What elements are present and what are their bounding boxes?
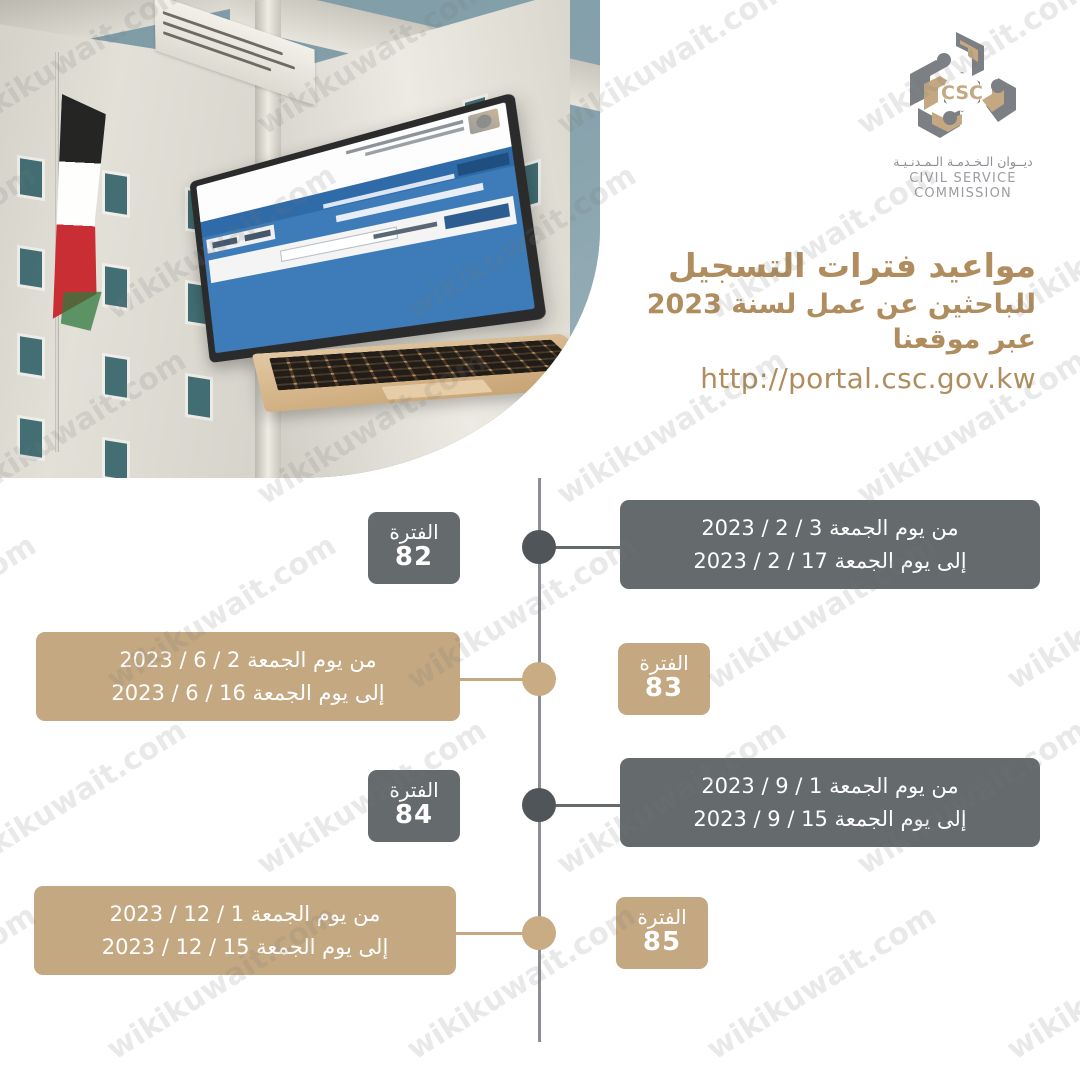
logo-name-arabic: ديــوان الـخـدمـة الـمـدنـيـة — [868, 154, 1058, 169]
timeline-dot-83 — [522, 662, 556, 696]
period-84-badge-label: الفترة — [368, 779, 460, 801]
headline-line-2: للباحثين عن عمل لسنة 2023 — [616, 287, 1036, 322]
period-82-from: من يوم الجمعة 3 / 2 / 2023 — [642, 512, 1018, 545]
laptop-mockup — [200, 178, 600, 478]
headline-line-3: عبر موقعنا — [616, 322, 1036, 357]
timeline-dot-85 — [522, 916, 556, 950]
period-85-from: من يوم الجمعة 1 / 12 / 2023 — [56, 898, 434, 931]
svg-text:CSC: CSC — [941, 82, 983, 104]
csc-logo: CSC ديــوان الـخـدمـة الـمـدنـيـة CIVIL … — [868, 26, 1058, 196]
period-badge-85: الفترة 85 — [616, 897, 708, 969]
watermark-text: wikikuwait.com — [1001, 898, 1080, 1067]
period-card-85: من يوم الجمعة 1 / 12 / 2023 إلى يوم الجم… — [34, 886, 456, 975]
period-82-badge-label: الفترة — [368, 521, 460, 543]
period-84-badge-number: 84 — [368, 801, 460, 830]
timeline-dot-82 — [522, 530, 556, 564]
timeline-dot-84 — [522, 788, 556, 822]
headline-line-1: مواعيد فترات التسجيل — [616, 246, 1036, 286]
period-85-to: إلى يوم الجمعة 15 / 12 / 2023 — [56, 931, 434, 964]
hero-photo — [0, 0, 600, 478]
period-card-84: من يوم الجمعة 1 / 9 / 2023 إلى يوم الجمع… — [620, 758, 1040, 847]
period-84-from: من يوم الجمعة 1 / 9 / 2023 — [642, 770, 1018, 803]
period-badge-83: الفترة 83 — [618, 643, 710, 715]
watermark-text: wikikuwait.com — [0, 713, 192, 882]
period-83-badge-number: 83 — [618, 674, 710, 703]
csc-logo-mark-icon: CSC — [898, 26, 1028, 148]
period-83-badge-label: الفترة — [618, 652, 710, 674]
period-83-from: من يوم الجمعة 2 / 6 / 2023 — [58, 644, 438, 677]
infographic-canvas: CSC ديــوان الـخـدمـة الـمـدنـيـة CIVIL … — [0, 0, 1080, 1080]
period-84-to: إلى يوم الجمعة 15 / 9 / 2023 — [642, 803, 1018, 836]
period-badge-84: الفترة 84 — [368, 770, 460, 842]
period-card-82: من يوم الجمعة 3 / 2 / 2023 إلى يوم الجمع… — [620, 500, 1040, 589]
period-badge-82: الفترة 82 — [368, 512, 460, 584]
laptop-trackpad — [380, 379, 494, 401]
watermark-text: wikikuwait.com — [701, 898, 943, 1067]
period-83-to: إلى يوم الجمعة 16 / 6 / 2023 — [58, 677, 438, 710]
period-82-to: إلى يوم الجمعة 17 / 2 / 2023 — [642, 545, 1018, 578]
csc-hexagon-icon: CSC — [898, 26, 1028, 148]
period-82-badge-number: 82 — [368, 543, 460, 572]
period-card-83: من يوم الجمعة 2 / 6 / 2023 إلى يوم الجمع… — [36, 632, 460, 721]
headline-block: مواعيد فترات التسجيل للباحثين عن عمل لسن… — [616, 246, 1036, 398]
portal-url[interactable]: http://portal.csc.gov.kw — [616, 360, 1036, 398]
period-85-badge-label: الفترة — [616, 906, 708, 928]
logo-name-english: CIVIL SERVICE COMMISSION — [868, 171, 1058, 201]
period-85-badge-number: 85 — [616, 928, 708, 957]
